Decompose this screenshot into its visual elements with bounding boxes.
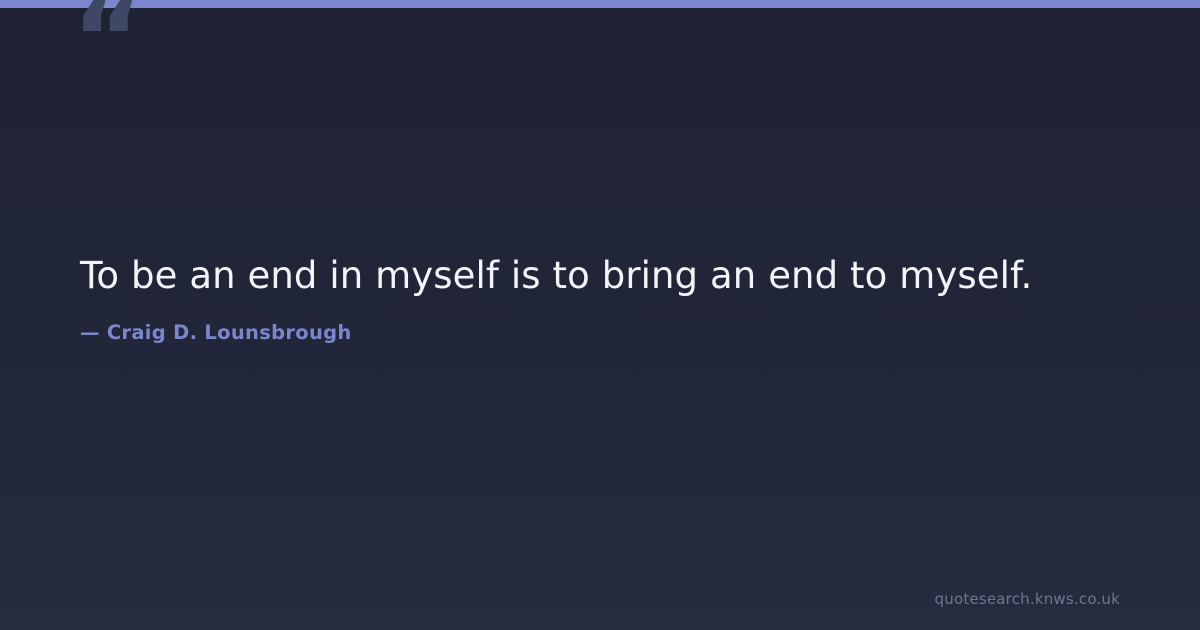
- quote-body: To be an end in myself is to bring an en…: [80, 252, 1120, 344]
- attribution-author-name: Craig D. Lounsbrough: [107, 321, 352, 344]
- top-accent-bar: [0, 0, 1200, 8]
- quote-attribution: —Craig D. Lounsbrough: [80, 321, 1120, 344]
- source-url-label: quotesearch.knws.co.uk: [935, 590, 1120, 608]
- opening-quotation-mark-icon: “: [72, 0, 143, 94]
- attribution-dash: —: [80, 321, 100, 344]
- quote-card: “ To be an end in myself is to bring an …: [0, 0, 1200, 630]
- quote-text: To be an end in myself is to bring an en…: [80, 252, 1120, 299]
